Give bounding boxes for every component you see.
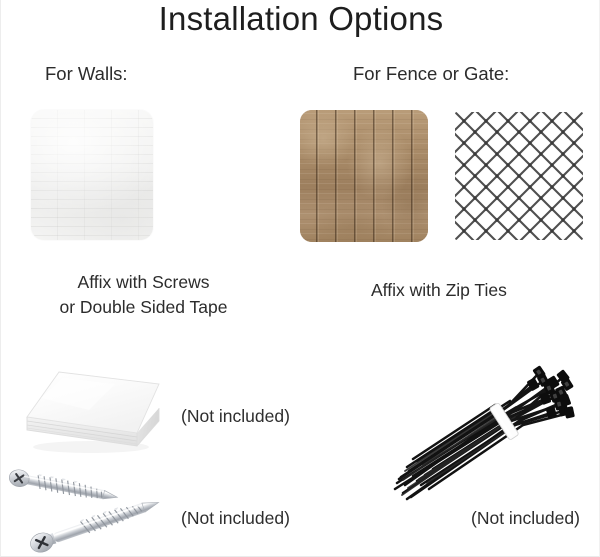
- zipties-not-included-note: (Not included): [471, 506, 580, 530]
- wall-highlight: [31, 110, 153, 240]
- caption-walls-line2: or Double Sided Tape: [60, 297, 228, 317]
- zip-tie-bundle: [383, 355, 583, 515]
- section-heading-walls: For Walls:: [45, 62, 128, 86]
- caption-fence: Affix with Zip Ties: [371, 278, 507, 303]
- wood-plank-seams: [300, 110, 428, 242]
- screws-not-included-note: (Not included): [181, 506, 290, 530]
- tape-not-included-note: (Not included): [181, 404, 290, 428]
- wood-fence-tile: [300, 110, 428, 242]
- screws-illustration: [3, 452, 178, 554]
- section-heading-fence: For Fence or Gate:: [353, 62, 509, 86]
- caption-walls-line1: Affix with Screws: [78, 272, 210, 292]
- caption-walls: Affix with Screws or Double Sided Tape: [11, 270, 276, 320]
- chain-link-fence-tile: [453, 110, 585, 242]
- installation-options-infographic: Installation Options For Walls: Affix wi…: [0, 0, 600, 557]
- page-title: Installation Options: [1, 0, 600, 39]
- double-sided-tape-stack: [19, 362, 169, 454]
- white-brick-wall-tile: [31, 110, 153, 240]
